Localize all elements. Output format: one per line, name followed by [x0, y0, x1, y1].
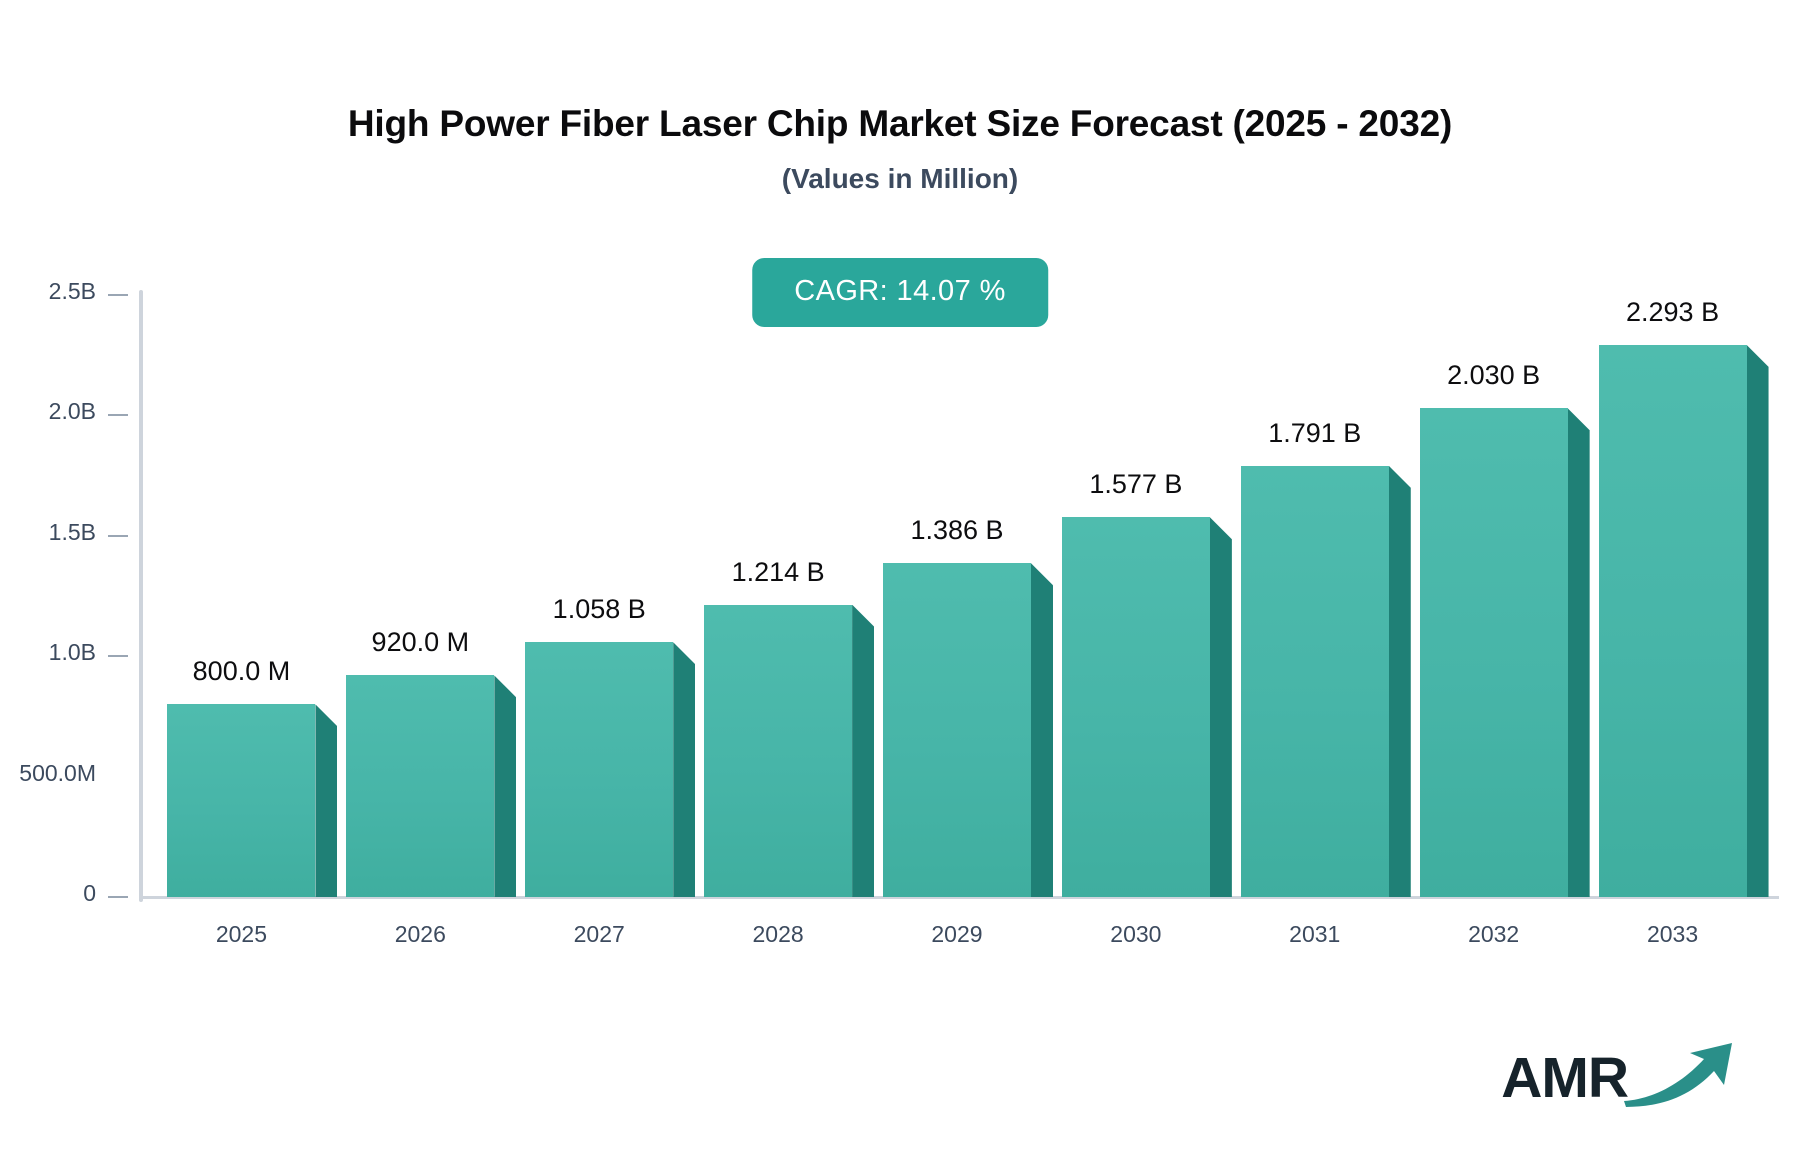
bar-front — [346, 675, 494, 897]
bar-side-face — [1389, 466, 1411, 897]
bar-value-label: 1.058 B — [553, 594, 646, 625]
bar-value-label: 2.293 B — [1626, 297, 1719, 328]
bar-front — [1062, 517, 1210, 897]
bar-2027[interactable]: 1.058 B — [525, 642, 673, 897]
x-axis-label-2029: 2029 — [868, 921, 1047, 948]
amr-logo-text: AMR — [1501, 1050, 1628, 1107]
plot-area: 0500.0M1.0B1.5B2.0B2.5B 800.0 M2025920.0… — [0, 0, 1800, 1156]
bars-layer: 800.0 M2025920.0 M20261.058 B20271.214 B… — [0, 0, 1800, 1156]
x-axis-label-2033: 2033 — [1583, 921, 1762, 948]
bar-2029[interactable]: 1.386 B — [883, 563, 1031, 897]
x-axis-label-2031: 2031 — [1225, 921, 1404, 948]
growth-arrow-icon — [1620, 1039, 1740, 1114]
bar-value-label: 1.386 B — [910, 515, 1003, 546]
x-axis-label-2027: 2027 — [510, 921, 689, 948]
bar-2025[interactable]: 800.0 M — [167, 704, 315, 897]
bar-side-face — [315, 704, 337, 897]
bar-front — [704, 605, 852, 897]
bar-front — [525, 642, 673, 897]
bar-2031[interactable]: 1.791 B — [1241, 466, 1389, 897]
bar-value-label: 1.214 B — [732, 557, 825, 588]
x-axis-label-2025: 2025 — [152, 921, 331, 948]
bar-2030[interactable]: 1.577 B — [1062, 517, 1210, 897]
bar-value-label: 2.030 B — [1447, 360, 1540, 391]
bar-side-face — [852, 605, 874, 897]
bar-value-label: 920.0 M — [372, 627, 470, 658]
bar-2032[interactable]: 2.030 B — [1420, 408, 1568, 897]
bar-side-face — [494, 675, 516, 897]
bar-2033[interactable]: 2.293 B — [1599, 345, 1747, 897]
bar-side-face — [673, 642, 695, 897]
bar-side-face — [1210, 517, 1232, 897]
bar-side-face — [1568, 408, 1590, 897]
bar-side-face — [1747, 345, 1769, 897]
bar-front — [167, 704, 315, 897]
bar-2028[interactable]: 1.214 B — [704, 605, 852, 897]
bar-front — [883, 563, 1031, 897]
bar-front — [1420, 408, 1568, 897]
amr-logo: AMR — [1501, 1039, 1740, 1118]
x-axis-label-2026: 2026 — [331, 921, 510, 948]
bar-front — [1599, 345, 1747, 897]
bar-front — [1241, 466, 1389, 897]
bar-value-label: 800.0 M — [193, 656, 291, 687]
x-axis-label-2028: 2028 — [689, 921, 868, 948]
x-axis-label-2032: 2032 — [1404, 921, 1583, 948]
bar-value-label: 1.577 B — [1089, 469, 1182, 500]
x-axis-label-2030: 2030 — [1046, 921, 1225, 948]
bar-2026[interactable]: 920.0 M — [346, 675, 494, 897]
bar-value-label: 1.791 B — [1268, 418, 1361, 449]
bar-side-face — [1031, 563, 1053, 897]
